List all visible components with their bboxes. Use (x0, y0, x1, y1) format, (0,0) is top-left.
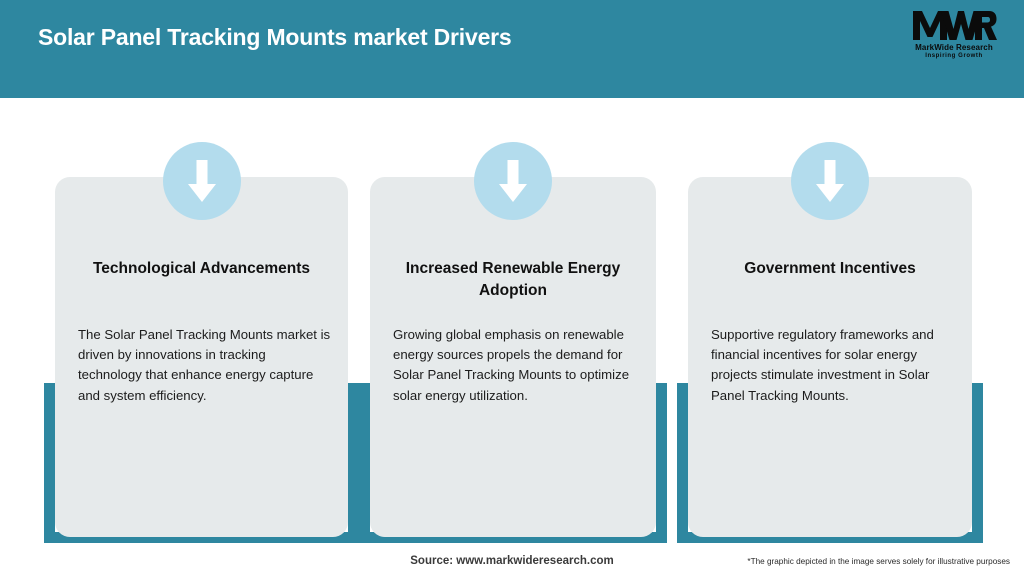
card-frame-right-bar (656, 383, 667, 543)
card-frame-left-bar (677, 383, 688, 543)
driver-card-1: Technological Advancements The Solar Pan… (44, 98, 359, 576)
driver-card-3: Government Incentives Supportive regulat… (677, 98, 983, 576)
header-bar: Solar Panel Tracking Mounts market Drive… (0, 0, 1024, 98)
card-frame-left-bar (359, 383, 370, 543)
card-frame-right-bar (348, 383, 359, 543)
logo-company-name: MarkWide Research (902, 43, 1006, 52)
card-body-text: The Solar Panel Tracking Mounts market i… (78, 325, 333, 406)
card-frame-right-bar (972, 383, 983, 543)
driver-card-2: Increased Renewable Energy Adoption Grow… (359, 98, 667, 576)
card-heading: Technological Advancements (70, 258, 333, 280)
card-heading: Increased Renewable Energy Adoption (385, 258, 641, 303)
card-body-text: Growing global emphasis on renewable ene… (393, 325, 641, 406)
arrow-down-icon (474, 142, 552, 220)
logo-tagline: Inspiring Growth (902, 53, 1006, 59)
arrow-down-icon (791, 142, 869, 220)
page-title: Solar Panel Tracking Mounts market Drive… (38, 24, 512, 51)
card-body-text: Supportive regulatory frameworks and fin… (711, 325, 957, 406)
illustrative-disclaimer: *The graphic depicted in the image serve… (747, 557, 1010, 566)
brand-logo: MarkWide Research Inspiring Growth (902, 8, 1006, 59)
drivers-card-row: Technological Advancements The Solar Pan… (0, 98, 1024, 576)
arrow-down-icon (163, 142, 241, 220)
card-heading: Government Incentives (703, 258, 957, 280)
card-frame-left-bar (44, 383, 55, 543)
mwr-monogram-icon (911, 8, 997, 42)
